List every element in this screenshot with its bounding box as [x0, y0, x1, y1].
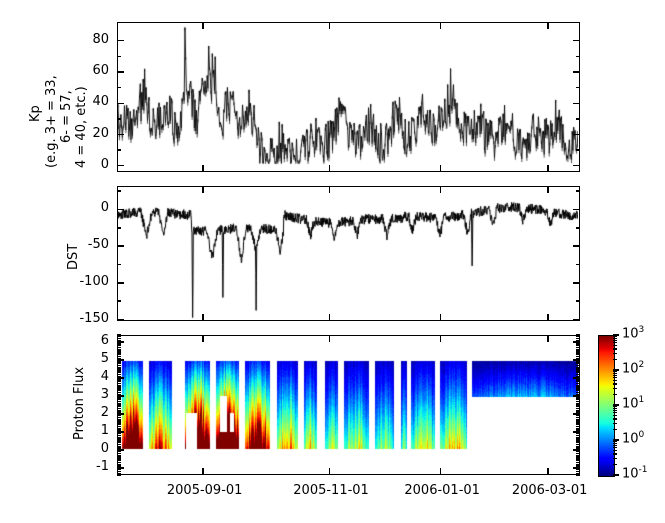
x-tick-label: 2006-03-01 [512, 483, 584, 498]
y-tick-minor [117, 404, 121, 405]
y-tick-major [117, 40, 124, 41]
y-tick-minor-right [576, 394, 580, 395]
y-tick-minor [117, 354, 121, 355]
x-tick-top [547, 22, 548, 29]
y-tick-minor-right [576, 358, 580, 359]
y-tick-minor [117, 370, 121, 371]
colorbar-tick-minor [613, 377, 617, 378]
y-tick-minor-right [576, 420, 580, 421]
y-tick-minor-right [576, 118, 580, 119]
y-tick-minor [117, 383, 121, 384]
x-tick-top [329, 186, 330, 193]
x-tick-bottom [547, 314, 548, 321]
y-tick-minor-right [576, 419, 580, 420]
x-tick-bottom [202, 468, 203, 475]
y-tick-minor [117, 367, 121, 368]
y-tick-minor [117, 411, 121, 412]
y-tick-minor [117, 349, 121, 350]
y-tick-minor [117, 385, 121, 386]
y-tick-label: 0 [101, 157, 109, 172]
y-tick-major [117, 282, 124, 283]
y-tick-minor [117, 336, 121, 337]
y-tick-minor-right [576, 406, 580, 407]
y-tick-minor-right [576, 386, 580, 387]
y-tick-minor [117, 428, 121, 429]
y-tick-minor [117, 446, 121, 447]
y-tick-minor-right [576, 300, 580, 301]
y-tick-minor [117, 361, 121, 362]
colorbar-tick-minor [613, 450, 617, 451]
y-tick-label: 0 [101, 200, 109, 215]
y-tick-minor [117, 376, 121, 377]
y-tick-minor-right [576, 404, 580, 405]
y-tick-minor-right [576, 401, 580, 402]
y-tick-label: 0 [101, 441, 109, 456]
y-tick-minor-right [576, 87, 580, 88]
y-tick-minor [117, 149, 121, 150]
x-tick-label: 2005-09-01 [167, 483, 239, 498]
y-tick-minor [117, 264, 121, 265]
y-tick-minor [117, 300, 121, 301]
y-tick-minor [117, 388, 121, 389]
colorbar-tick-minor [613, 383, 617, 384]
y-tick-minor-right [576, 424, 580, 425]
y-tick-minor [117, 87, 121, 88]
y-tick-minor-right [576, 429, 580, 430]
x-tick-top [202, 22, 203, 29]
y-tick-major [117, 103, 124, 104]
y-tick-minor [117, 392, 121, 393]
y-tick-minor [117, 190, 121, 191]
colorbar-tick-minor [613, 429, 617, 430]
colorbar-tick-minor [613, 441, 617, 442]
colorbar-tick-minor [613, 447, 617, 448]
colorbar-tick-minor [613, 443, 617, 444]
y-tick-major-right [573, 319, 580, 320]
y-tick-minor [117, 399, 121, 400]
y-tick-minor-right [576, 437, 580, 438]
y-tick-major [117, 245, 124, 246]
y-tick-minor-right [576, 352, 580, 353]
y-tick-minor [117, 444, 121, 445]
colorbar-tick-minor [613, 408, 617, 409]
y-tick-label: 60 [92, 63, 109, 78]
y-tick-minor-right [576, 453, 580, 454]
y-tick-minor [117, 419, 121, 420]
colorbar-tick-minor [613, 380, 617, 381]
y-tick-minor-right [576, 392, 580, 393]
y-tick-minor [117, 401, 121, 402]
y-tick-minor [117, 455, 121, 456]
y-tick-major [117, 71, 124, 72]
y-tick-minor [117, 420, 121, 421]
colorbar-tick-minor [613, 336, 617, 337]
x-tick-top [440, 186, 441, 193]
y-tick-minor-right [576, 374, 580, 375]
y-tick-minor-right [576, 426, 580, 427]
colorbar-tick-major [613, 474, 619, 475]
y-tick-minor [117, 458, 121, 459]
y-tick-minor [117, 356, 121, 357]
y-tick-label: 3 [101, 387, 109, 402]
y-tick-major [117, 209, 124, 210]
y-tick-minor [117, 435, 121, 436]
y-tick-minor-right [576, 460, 580, 461]
y-tick-minor-right [576, 428, 580, 429]
y-tick-minor-right [576, 397, 580, 398]
colorbar-tick-minor [613, 458, 617, 459]
y-tick-minor-right [576, 345, 580, 346]
y-tick-minor-right [576, 438, 580, 439]
y-tick-minor-right [576, 458, 580, 459]
y-tick-minor-right [576, 469, 580, 470]
y-tick-minor [117, 350, 121, 351]
colorbar-tick-minor [613, 373, 617, 374]
y-tick-minor-right [576, 149, 580, 150]
y-tick-minor [117, 451, 121, 452]
y-tick-minor-right [576, 451, 580, 452]
y-tick-minor-right [576, 465, 580, 466]
x-tick-top [547, 335, 548, 342]
y-tick-major-right [573, 103, 580, 104]
y-tick-minor-right [576, 408, 580, 409]
y-tick-minor-right [576, 383, 580, 384]
y-tick-minor [117, 227, 121, 228]
y-tick-major-right [573, 134, 580, 135]
x-tick-top [329, 335, 330, 342]
y-tick-minor-right [576, 190, 580, 191]
y-tick-minor [117, 338, 121, 339]
x-tick-bottom [329, 314, 330, 321]
y-tick-minor-right [576, 415, 580, 416]
y-tick-minor-right [576, 474, 580, 475]
y-tick-minor [117, 363, 121, 364]
y-tick-minor [117, 473, 121, 474]
y-tick-minor-right [576, 336, 580, 337]
x-tick-bottom [440, 314, 441, 321]
y-tick-minor-right [576, 422, 580, 423]
kp-series-canvas [118, 23, 578, 170]
y-tick-minor-right [576, 411, 580, 412]
x-tick-top [547, 186, 548, 193]
y-tick-minor [117, 410, 121, 411]
colorbar-tick-minor [613, 394, 617, 395]
x-tick-top [440, 22, 441, 29]
colorbar-tick-minor [613, 359, 617, 360]
colorbar-tick-minor [613, 345, 617, 346]
y-tick-minor [117, 429, 121, 430]
y-tick-minor-right [576, 56, 580, 57]
y-tick-minor [117, 358, 121, 359]
y-tick-minor [117, 442, 121, 443]
colorbar-tick-minor [613, 371, 617, 372]
y-tick-major-right [573, 282, 580, 283]
colorbar-tick-label: 102 [622, 360, 644, 376]
y-tick-minor [117, 381, 121, 382]
y-tick-minor-right [576, 442, 580, 443]
y-tick-minor-right [576, 356, 580, 357]
y-tick-minor [117, 465, 121, 466]
y-tick-label: 5 [101, 351, 109, 366]
y-tick-minor-right [576, 385, 580, 386]
y-tick-minor [117, 438, 121, 439]
y-tick-minor [117, 372, 121, 373]
y-tick-minor [117, 471, 121, 472]
colorbar-tick-minor [613, 406, 617, 407]
colorbar-tick-minor [613, 453, 617, 454]
colorbar-tick-minor [613, 388, 617, 389]
x-tick-bottom [202, 165, 203, 172]
y-tick-minor [117, 426, 121, 427]
y-tick-minor [117, 340, 121, 341]
y-tick-minor [117, 469, 121, 470]
y-tick-minor [117, 474, 121, 475]
kp-axis-label-line3: 6- = 57, [59, 90, 74, 143]
y-tick-minor [117, 379, 121, 380]
y-tick-label: -100 [79, 274, 109, 289]
x-tick-bottom [547, 468, 548, 475]
x-tick-label: 2005-11-01 [293, 483, 365, 498]
y-tick-minor [117, 440, 121, 441]
x-tick-label: 2006-01-01 [404, 483, 476, 498]
y-tick-minor [117, 415, 121, 416]
y-tick-minor-right [576, 349, 580, 350]
x-tick-bottom [329, 468, 330, 475]
y-tick-minor-right [576, 471, 580, 472]
y-tick-minor [117, 347, 121, 348]
y-tick-minor-right [576, 354, 580, 355]
y-tick-minor [117, 456, 121, 457]
y-tick-minor-right [576, 456, 580, 457]
y-tick-minor-right [576, 464, 580, 465]
y-tick-minor-right [576, 376, 580, 377]
y-tick-minor [117, 408, 121, 409]
colorbar-tick-minor [613, 412, 617, 413]
proton-axis-label: Proton Flux [72, 367, 87, 440]
y-tick-minor-right [576, 227, 580, 228]
y-tick-minor-right [576, 410, 580, 411]
y-tick-minor-right [576, 264, 580, 265]
y-tick-label: 4 [101, 369, 109, 384]
x-tick-top [329, 22, 330, 29]
x-tick-top [202, 335, 203, 342]
x-tick-top [440, 335, 441, 342]
y-tick-minor-right [576, 462, 580, 463]
y-tick-major-right [573, 165, 580, 166]
x-tick-bottom [329, 165, 330, 172]
y-tick-minor [117, 447, 121, 448]
y-tick-minor-right [576, 347, 580, 348]
y-tick-minor [117, 437, 121, 438]
colorbar-tick-minor [613, 340, 617, 341]
y-tick-minor-right [576, 473, 580, 474]
y-tick-minor [117, 345, 121, 346]
colorbar-tick-minor [613, 348, 617, 349]
y-tick-minor-right [576, 440, 580, 441]
y-tick-minor [117, 56, 121, 57]
y-tick-label: 80 [92, 32, 109, 47]
kp-axis-label-line1: Kp [28, 105, 43, 122]
y-tick-major [117, 319, 124, 320]
y-tick-minor-right [576, 368, 580, 369]
y-tick-minor-right [576, 455, 580, 456]
colorbar-tick-minor [613, 410, 617, 411]
y-tick-major [117, 165, 124, 166]
colorbar-tick-label: 101 [622, 395, 644, 411]
y-tick-minor-right [576, 433, 580, 434]
y-tick-minor [117, 417, 121, 418]
y-tick-minor-right [576, 381, 580, 382]
x-tick-bottom [440, 468, 441, 475]
figure-root: Kp (e.g. 3+ = 33, 6- = 57, 4 = 40, etc.)… [0, 0, 665, 523]
y-tick-minor [117, 352, 121, 353]
y-tick-minor [117, 365, 121, 366]
colorbar-tick-label: 103 [622, 325, 644, 341]
y-tick-major-right [573, 245, 580, 246]
colorbar-tick-minor [613, 375, 617, 376]
y-tick-label: 20 [92, 126, 109, 141]
y-tick-major-right [573, 71, 580, 72]
y-tick-minor [117, 422, 121, 423]
y-tick-minor-right [576, 334, 580, 335]
x-tick-top [202, 186, 203, 193]
dst-axis-label: DST [66, 244, 81, 270]
dst-series-canvas [118, 187, 578, 319]
y-tick-minor-right [576, 390, 580, 391]
y-tick-minor-right [576, 388, 580, 389]
y-tick-minor [117, 462, 121, 463]
y-tick-minor [117, 424, 121, 425]
y-tick-minor-right [576, 444, 580, 445]
y-tick-minor-right [576, 370, 580, 371]
y-tick-minor [117, 460, 121, 461]
colorbar-tick-minor [613, 445, 617, 446]
kp-axis-label-line4: 4 = 40, etc.) [74, 86, 89, 168]
y-tick-minor-right [576, 446, 580, 447]
proton-flux-heatmap-canvas [118, 336, 578, 473]
colorbar-tick-minor [613, 338, 617, 339]
x-tick-bottom [547, 165, 548, 172]
y-tick-minor-right [576, 379, 580, 380]
y-tick-minor [117, 397, 121, 398]
y-tick-minor [117, 386, 121, 387]
colorbar-tick-label: 100 [622, 430, 644, 446]
colorbar-tick-minor [613, 342, 617, 343]
y-tick-minor-right [576, 403, 580, 404]
y-tick-minor-right [576, 363, 580, 364]
y-tick-minor [117, 118, 121, 119]
kp-axis-label-line2: (e.g. 3+ = 33, [44, 75, 59, 168]
y-tick-minor [117, 406, 121, 407]
y-tick-minor [117, 334, 121, 335]
y-tick-minor-right [576, 447, 580, 448]
colorbar-tick-minor [613, 353, 617, 354]
y-tick-label: -50 [88, 237, 109, 252]
y-tick-major-right [573, 209, 580, 210]
y-tick-label: 40 [92, 94, 109, 109]
y-tick-minor-right [576, 367, 580, 368]
y-tick-minor [117, 433, 121, 434]
y-tick-label: -1 [96, 459, 109, 474]
x-tick-bottom [440, 165, 441, 172]
y-tick-minor [117, 374, 121, 375]
colorbar-tick-minor [613, 423, 617, 424]
y-tick-minor [117, 394, 121, 395]
y-tick-minor [117, 343, 121, 344]
y-tick-minor-right [576, 372, 580, 373]
y-tick-label: -150 [79, 311, 109, 326]
y-tick-minor-right [576, 399, 580, 400]
y-tick-label: 2 [101, 405, 109, 420]
y-tick-minor [117, 403, 121, 404]
x-tick-bottom [202, 314, 203, 321]
y-tick-label: 6 [101, 333, 109, 348]
y-tick-minor [117, 453, 121, 454]
y-tick-major-right [573, 40, 580, 41]
y-tick-label: 1 [101, 423, 109, 438]
y-tick-minor-right [576, 343, 580, 344]
y-tick-minor [117, 368, 121, 369]
colorbar-tick-minor [613, 418, 617, 419]
colorbar-tick-minor [613, 415, 617, 416]
y-tick-minor-right [576, 338, 580, 339]
y-tick-minor-right [576, 435, 580, 436]
colorbar-tick-minor [613, 464, 617, 465]
y-tick-minor-right [576, 361, 580, 362]
y-tick-minor-right [576, 365, 580, 366]
y-tick-minor-right [576, 417, 580, 418]
y-tick-minor-right [576, 340, 580, 341]
y-tick-minor [117, 464, 121, 465]
y-tick-minor-right [576, 350, 580, 351]
y-tick-major [117, 134, 124, 135]
y-tick-minor [117, 390, 121, 391]
colorbar-tick-label: 10-1 [622, 465, 648, 481]
